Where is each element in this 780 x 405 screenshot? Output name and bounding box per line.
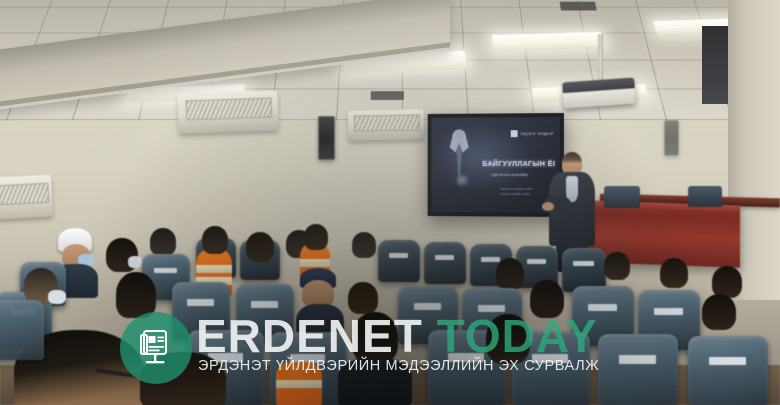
ceiling-light-panel: [492, 32, 605, 51]
seat-number-tag: [414, 303, 442, 310]
seat-number-tag: [573, 261, 593, 266]
projector-mount-pole: [598, 34, 603, 84]
photograph-conference-hall: ЭРДЭНЭТ ҮЙЛДВЭР БАЙГУУЛЛАГЫН ЁС ЗҮЙ сург…: [0, 0, 780, 405]
audience-torso: [338, 358, 412, 405]
audience-head: [352, 312, 398, 364]
audience-head: [202, 226, 228, 254]
slide-title: БАЙГУУЛЛАГЫН ЁС ЗҮЙ: [482, 159, 554, 168]
air-conditioner-unit: [0, 175, 53, 220]
ceiling-vent: [371, 91, 404, 100]
slide-corporate-logo: ЭРДЭНЭТ ҮЙЛДВЭР: [511, 130, 553, 137]
audience-head: [530, 280, 564, 318]
audience-head: [702, 294, 736, 330]
ac-grille: [0, 182, 50, 205]
wall-speaker: [664, 120, 679, 156]
face-mask: [48, 290, 66, 304]
seat-number-tag: [654, 308, 683, 315]
auditorium-seat: [688, 336, 768, 405]
audience-head: [348, 282, 378, 314]
face-mask: [128, 256, 142, 268]
auditorium-seat: [424, 242, 466, 284]
doorway-opening: [702, 26, 728, 104]
seat-number-tag: [251, 301, 278, 308]
stage-chair: [688, 186, 722, 207]
vest-reflective-stripe: [276, 380, 322, 388]
vest-reflective-stripe: [196, 265, 232, 273]
ceiling-projector: [562, 78, 636, 109]
ceiling-vent: [560, 2, 597, 11]
audience-head: [604, 252, 630, 280]
stage-chair: [604, 186, 640, 208]
seat-number-tag: [588, 304, 617, 311]
audience-head: [486, 314, 530, 364]
audience-head-foreground: [140, 352, 226, 405]
audience-head: [660, 258, 688, 288]
auditorium-seat: [378, 240, 420, 282]
seat-number-tag: [619, 355, 656, 364]
vest-reflective-stripe: [300, 259, 330, 267]
ac-grille: [354, 115, 420, 131]
auditorium-seat: [598, 334, 678, 405]
auditorium-seat: [0, 300, 44, 360]
audience-head: [116, 272, 156, 318]
slide-logo-text: ЭРДЭНЭТ ҮЙЛДВЭР: [520, 132, 553, 136]
hi-vis-vest: [276, 362, 322, 405]
audience-head: [352, 232, 376, 258]
slide-subtitle: сургалтын хөтөлбөр: [491, 172, 553, 177]
projection-screen: ЭРДЭНЭТ ҮЙЛДВЭР БАЙГУУЛЛАГЫН ЁС ЗҮЙ сург…: [428, 113, 564, 217]
air-conditioner-unit: [177, 90, 278, 133]
audience-head: [150, 228, 176, 256]
seat-number-tag: [532, 354, 568, 363]
seat-number-tag: [187, 299, 214, 306]
audience-head: [304, 224, 328, 250]
screen-hotspot-glare: [454, 173, 469, 188]
audience-head: [496, 258, 524, 290]
seat-number-tag: [389, 253, 408, 258]
audience-head: [246, 232, 274, 262]
slide-logo-mark: [511, 131, 518, 138]
seat-number-tag: [527, 259, 546, 264]
wall-speaker: [318, 116, 335, 160]
seat-number-tag: [478, 305, 506, 312]
seat-number-tag: [154, 268, 176, 274]
seat-number-tag: [481, 257, 500, 262]
projected-slide: ЭРДЭНЭТ ҮЙЛДВЭР БАЙГУУЛЛАГЫН ЁС ЗҮЙ сург…: [431, 117, 560, 213]
seat-number-tag: [448, 353, 484, 362]
seat-number-tag: [709, 357, 746, 365]
presenter-hand: [542, 202, 554, 211]
ac-grille: [186, 98, 273, 121]
air-conditioner-unit: [348, 109, 425, 140]
seat-number-tag: [435, 255, 454, 260]
